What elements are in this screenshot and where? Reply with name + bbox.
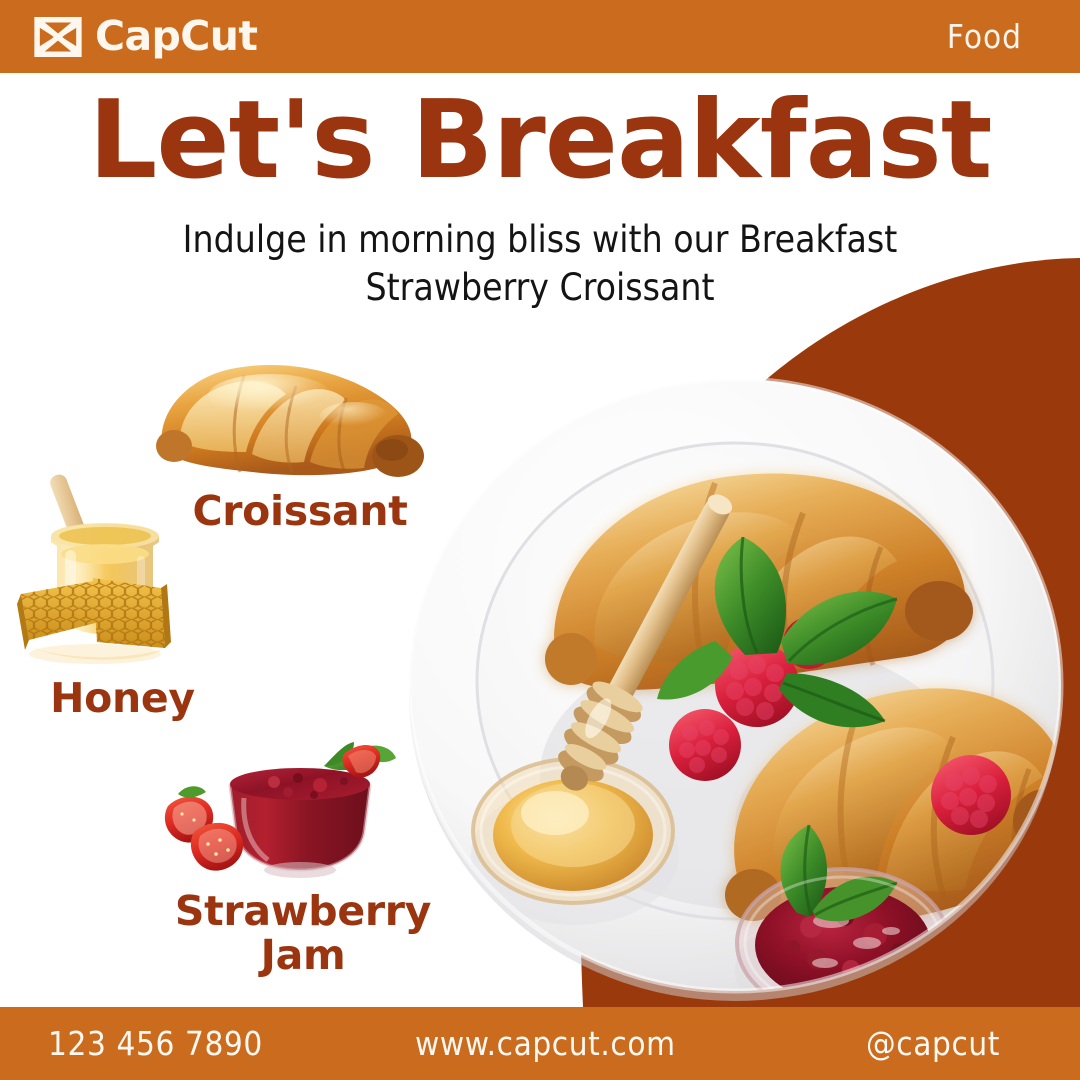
brand-name: CapCut <box>95 16 257 57</box>
capcut-bowtie-logo-icon <box>34 17 82 57</box>
page-subtitle: Indulge in morning bliss with our Breakf… <box>90 216 990 312</box>
footer-phone[interactable]: 123 456 7890 <box>48 1024 263 1063</box>
category-label: Food <box>947 17 1022 56</box>
page-title: Let's Breakfast <box>0 84 1080 198</box>
croissant-photo <box>140 340 460 485</box>
brand-lockup[interactable]: CapCut <box>34 16 257 57</box>
ingredient-honey: Honey <box>0 472 250 720</box>
breakfast-plate-photo <box>405 355 1065 1015</box>
header-bar: CapCut Food <box>0 0 1080 73</box>
ingredient-label: Honey <box>0 676 250 720</box>
honey-jar-honeycomb-photo <box>0 472 250 672</box>
footer-website[interactable]: www.capcut.com <box>415 1024 676 1063</box>
strawberry-jam-bowl-photo <box>148 740 458 885</box>
food-promo-poster: CapCut Food Let's Breakfast Indulge in m… <box>0 0 1080 1080</box>
ingredient-label: Strawberry Jam <box>148 889 458 978</box>
ingredient-strawberry-jam: Strawberry Jam <box>148 740 458 978</box>
footer-bar: 123 456 7890 www.capcut.com @capcut <box>0 1007 1080 1080</box>
footer-social-handle[interactable]: @capcut <box>866 1024 1000 1063</box>
